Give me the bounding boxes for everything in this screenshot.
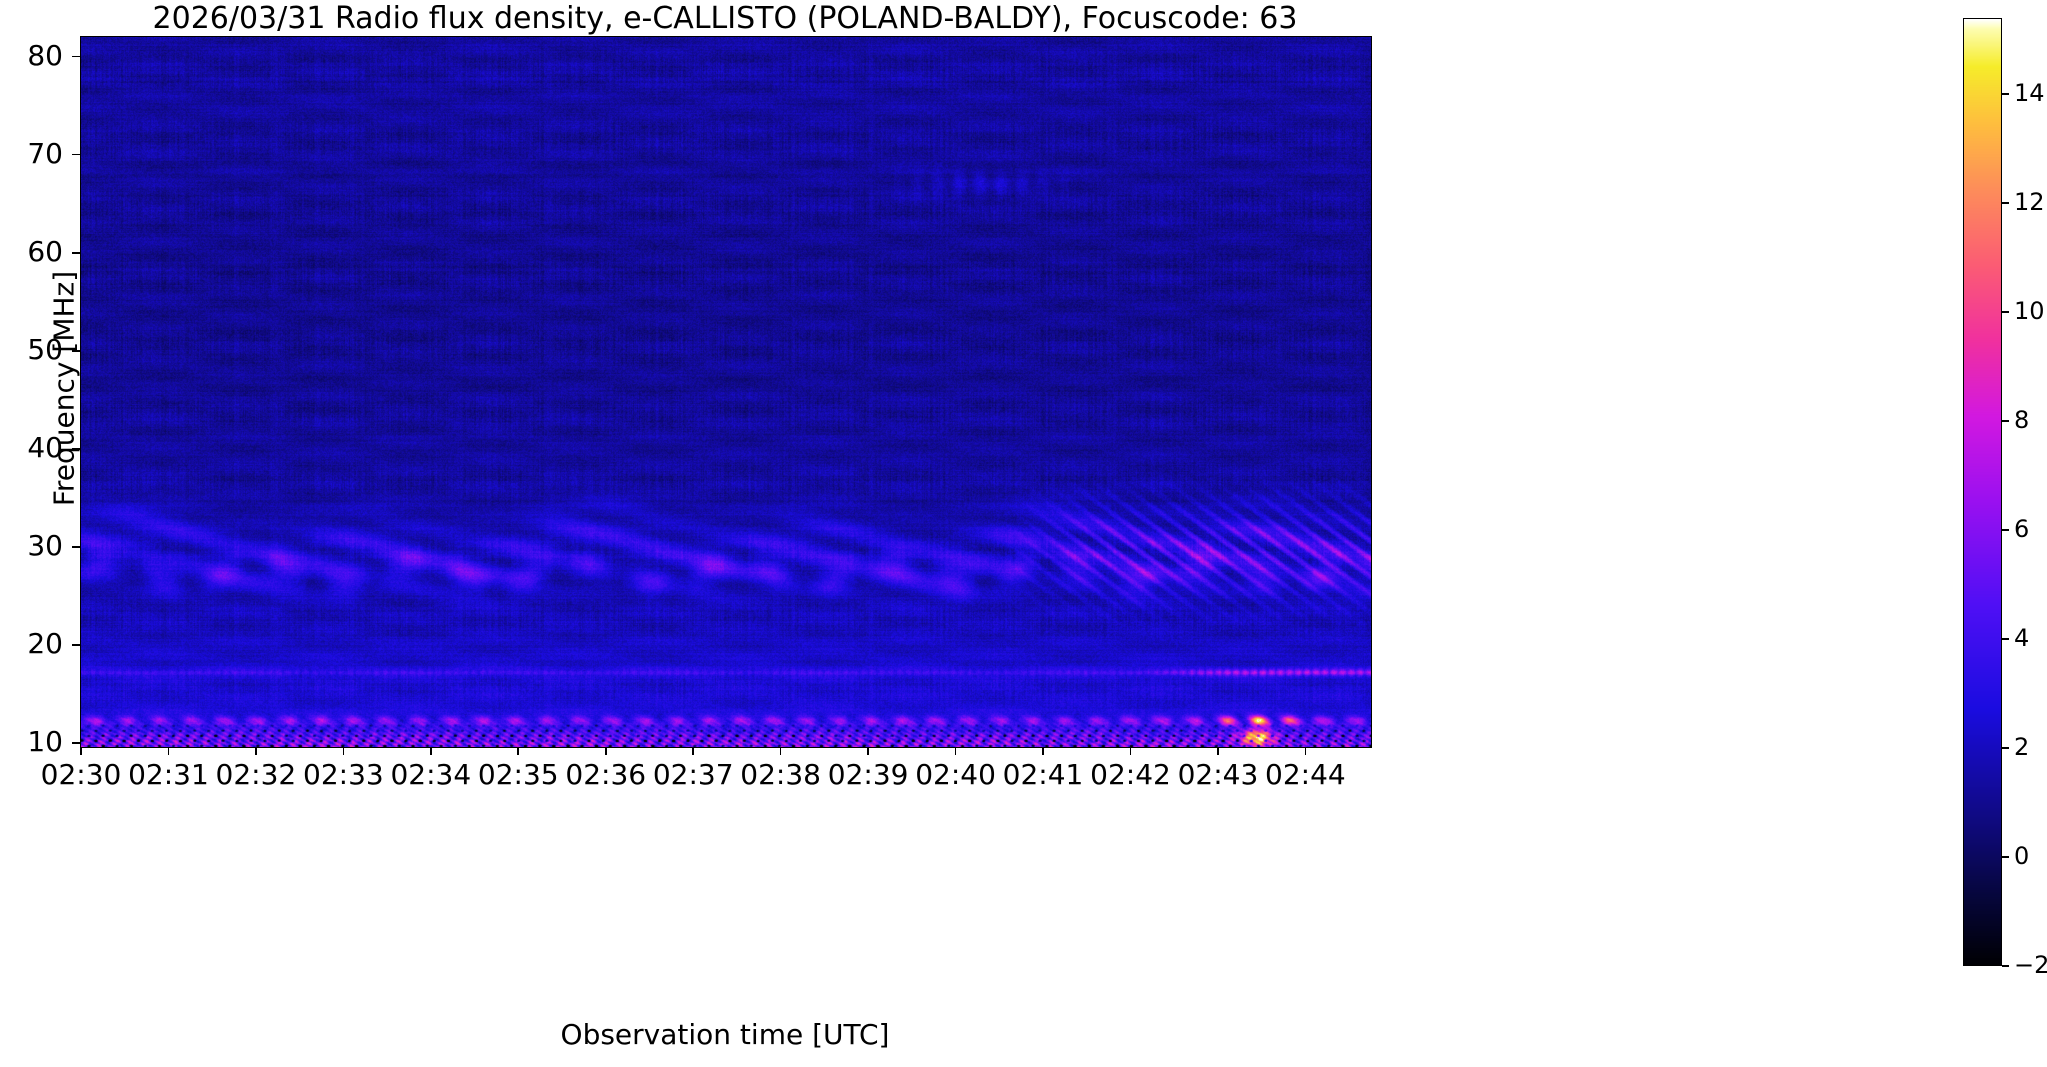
y-tick-mark [72, 56, 80, 58]
y-tick-mark [72, 350, 80, 352]
y-tick-mark [72, 448, 80, 450]
colorbar-tick-mark [2002, 202, 2009, 204]
colorbar-tick-label: 14 [2014, 81, 2045, 105]
x-tick-mark [692, 747, 694, 755]
x-tick-mark [80, 747, 82, 755]
colorbar-tick-mark [2002, 311, 2009, 313]
colorbar-tick-label: −2 [2014, 953, 2047, 977]
y-tick-label: 10 [0, 728, 63, 756]
colorbar-tick-label: 2 [2014, 735, 2029, 759]
x-tick-mark [1042, 747, 1044, 755]
y-tick-mark [72, 546, 80, 548]
colorbar-tick-label: 4 [2014, 626, 2029, 650]
page-title: 2026/03/31 Radio flux density, e-CALLIST… [80, 2, 1370, 36]
colorbar-tick-label: 6 [2014, 517, 2029, 541]
colorbar-tick-label: 0 [2014, 844, 2029, 868]
spectrogram-image [81, 37, 1371, 747]
colorbar-tick-mark [2002, 529, 2009, 531]
colorbar-tick-mark [2002, 856, 2009, 858]
colorbar-tick-mark [2002, 420, 2009, 422]
y-tick-label: 80 [0, 42, 63, 70]
x-tick-mark [1217, 747, 1219, 755]
colorbar-tick-label: 12 [2014, 190, 2045, 214]
y-tick-mark [72, 252, 80, 254]
x-tick-mark [867, 747, 869, 755]
y-tick-label: 60 [0, 238, 63, 266]
y-tick-label: 50 [0, 336, 63, 364]
y-tick-mark [72, 154, 80, 156]
y-tick-label: 20 [0, 630, 63, 658]
colorbar-tick-label: 10 [2014, 299, 2045, 323]
spectrogram-plot-area[interactable] [80, 36, 1372, 748]
x-axis-label: Observation time [UTC] [80, 1018, 1370, 1051]
y-tick-mark [72, 644, 80, 646]
colorbar[interactable]: 14121086420−2 [1963, 18, 2002, 966]
x-tick-mark [1130, 747, 1132, 755]
colorbar-tick-mark [2002, 747, 2009, 749]
x-tick-mark [430, 747, 432, 755]
x-tick-label: 02:44 [1235, 760, 1375, 790]
y-tick-label: 40 [0, 434, 63, 462]
x-tick-mark [255, 747, 257, 755]
x-tick-mark [780, 747, 782, 755]
colorbar-tick-mark [2002, 638, 2009, 640]
y-tick-label: 30 [0, 532, 63, 560]
x-tick-mark [343, 747, 345, 755]
colorbar-gradient [1963, 18, 2002, 966]
spectrogram-figure: 2026/03/31 Radio flux density, e-CALLIST… [0, 0, 2047, 1067]
x-tick-mark [1305, 747, 1307, 755]
x-tick-mark [517, 747, 519, 755]
x-tick-mark [605, 747, 607, 755]
colorbar-tick-label: 8 [2014, 408, 2029, 432]
colorbar-tick-mark [2002, 93, 2009, 95]
x-tick-mark [168, 747, 170, 755]
y-tick-mark [72, 742, 80, 744]
colorbar-tick-mark [2002, 965, 2009, 967]
y-tick-label: 70 [0, 140, 63, 168]
x-tick-mark [955, 747, 957, 755]
